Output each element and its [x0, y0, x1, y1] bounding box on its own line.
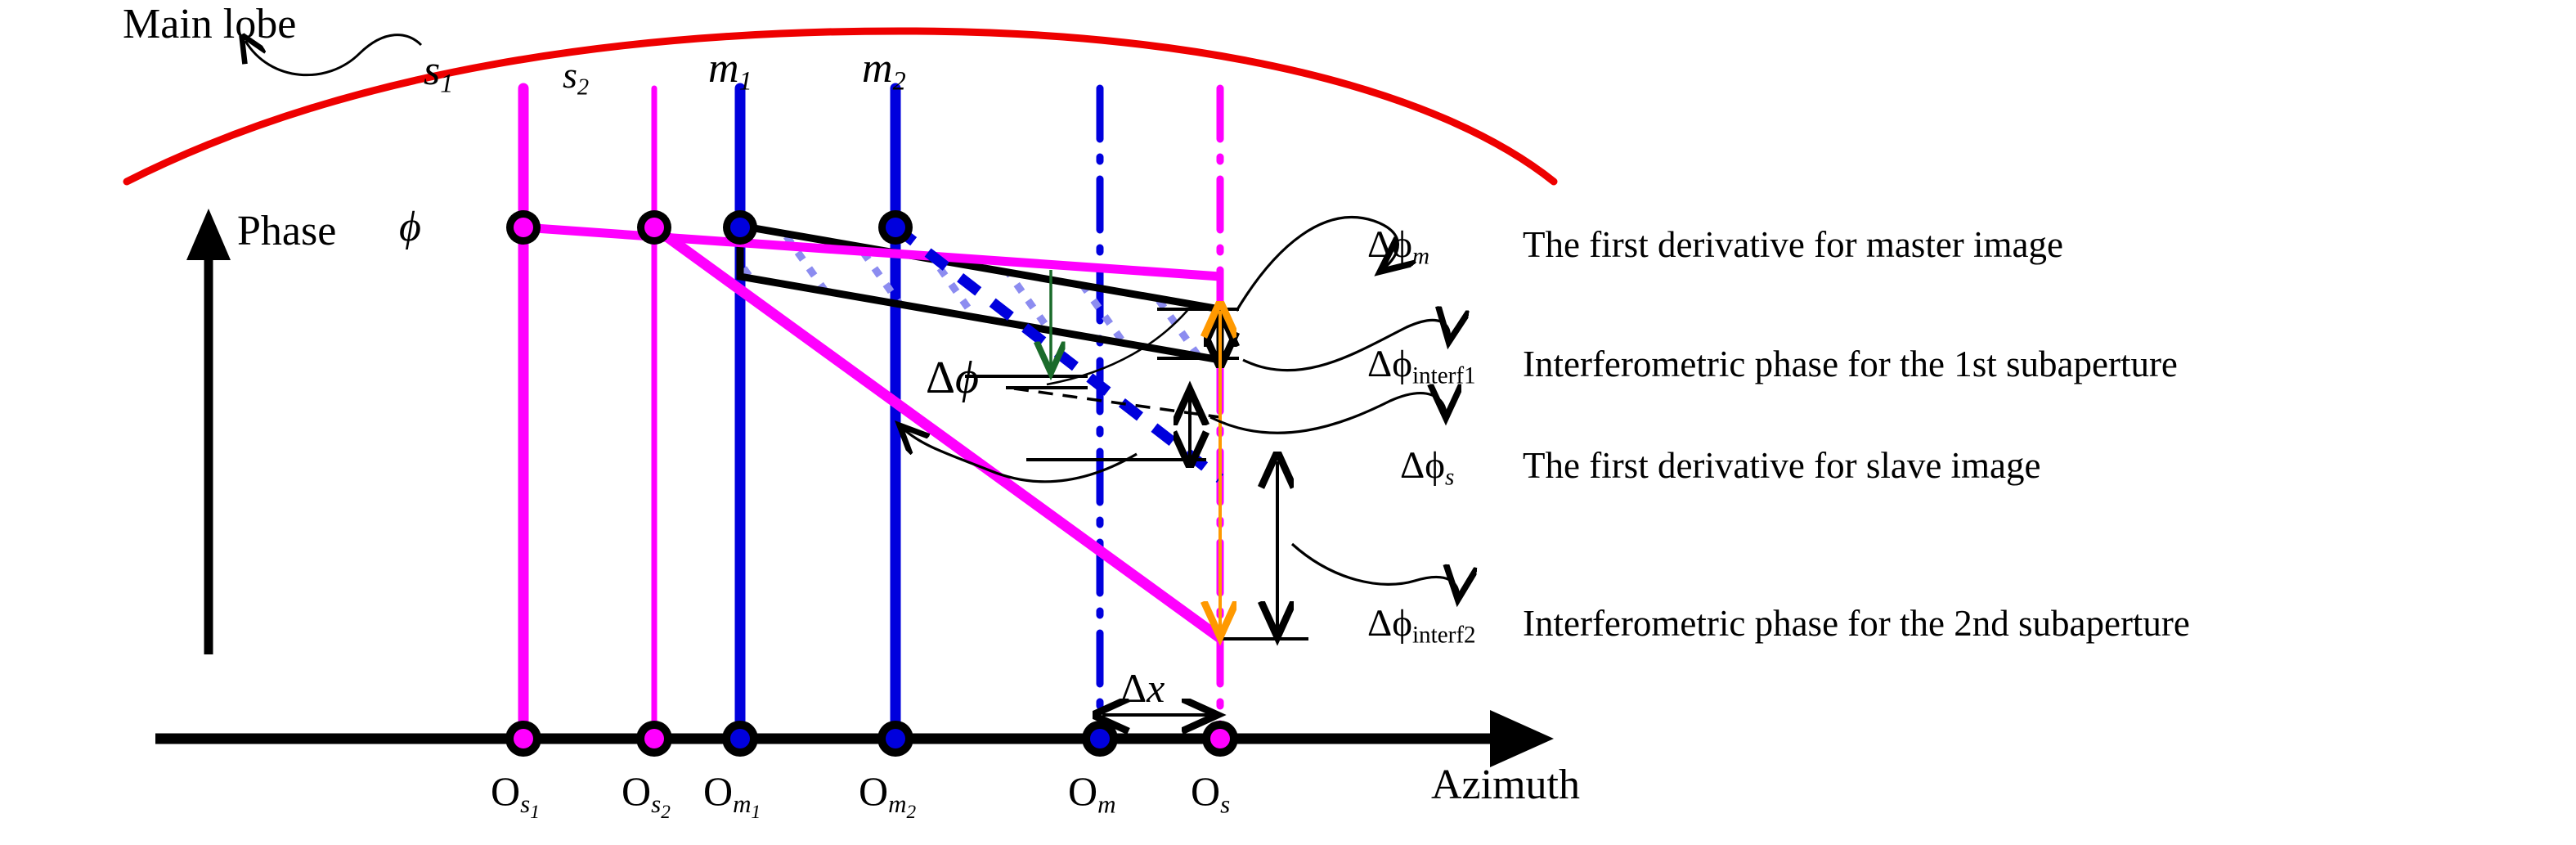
- axis-label-o-s: Os: [1191, 767, 1230, 819]
- axis-label-o-m1-sub: m1: [733, 789, 761, 818]
- label-m1-sub: 1: [739, 66, 752, 96]
- diagram-svg: [0, 0, 2576, 845]
- azimuth-axis-arrowhead: [1490, 710, 1554, 767]
- inner-delta-phi-label: Δϕ: [926, 352, 979, 404]
- phase-axis-arrowhead: [186, 209, 231, 260]
- delta-x-var: x: [1147, 665, 1165, 711]
- slave-phase-line-1: [523, 227, 1220, 276]
- legend-symbol-dphi-interf1: Δϕinterf1: [1367, 342, 1523, 390]
- axis-label-o-s1-subsub: 1: [530, 802, 540, 823]
- axis-label-o-s1-base: O: [491, 768, 520, 814]
- phi-label: ϕ: [399, 203, 421, 251]
- main-lobe-label: Main lobe: [123, 0, 296, 48]
- callout-arrow-dphi-s: [1210, 393, 1446, 434]
- axis-label-o-m1-sub-text: m: [733, 789, 751, 818]
- axis-label-o-m1-subsub: 1: [752, 802, 761, 823]
- inner-delta-phi-var: ϕ: [955, 353, 979, 403]
- axis-label-o-m2: Om2: [859, 767, 916, 824]
- axis-label-o-m1-base: O: [703, 768, 733, 814]
- legend-symbol-dphi-s-base: Δϕ: [1400, 444, 1445, 487]
- legend-text-dphi-s: The first derivative for slave image: [1523, 444, 2041, 487]
- legend-row-dphi-m: Δϕm The first derivative for master imag…: [1367, 222, 2063, 271]
- legend-symbol-dphi-m-sub: m: [1412, 244, 1429, 270]
- delta-x-label: Δx: [1120, 664, 1165, 712]
- legend-text-dphi-interf1: Interferometric phase for the 1st subape…: [1523, 343, 2178, 385]
- axis-label-o-m2-subsub: 2: [907, 802, 917, 823]
- axis-label-o-m2-sub-text: m: [888, 789, 906, 818]
- figure-canvas: Main lobe Phase Azimuth ϕ s1 s2 m1 m2 Os…: [0, 0, 2576, 845]
- axis-label-o-s2: Os2: [622, 767, 671, 824]
- label-s1-base: s: [424, 47, 440, 94]
- legend-symbol-dphi-interf1-sub: interf1: [1412, 363, 1476, 389]
- label-m1-base: m: [708, 45, 739, 92]
- legend-text-dphi-interf2: Interferometric phase for the 2nd subape…: [1523, 602, 2190, 645]
- axis-label-o-s2-sub: s2: [651, 789, 671, 818]
- legend-symbol-dphi-interf2-base: Δϕ: [1367, 602, 1412, 645]
- axis-label-o-m1: Om1: [703, 767, 761, 824]
- legend-symbol-dphi-m: Δϕm: [1367, 222, 1523, 271]
- inner-delta-phi-delta: Δ: [926, 353, 955, 403]
- label-s1: s1: [424, 47, 453, 99]
- legend-symbol-dphi-m-base: Δϕ: [1367, 223, 1412, 266]
- legend-row-dphi-s: Δϕs The first derivative for slave image: [1400, 443, 2041, 492]
- label-m2: m2: [862, 44, 906, 97]
- axis-label-o-s-sub: s: [1220, 789, 1230, 818]
- axis-label-o-s2-base: O: [622, 768, 651, 814]
- axis-label-o-s-base: O: [1191, 768, 1220, 814]
- legend-symbol-dphi-s: Δϕs: [1400, 443, 1523, 492]
- axis-label-o-m-sub: m: [1097, 789, 1115, 818]
- legend-row-dphi-interf2: Δϕinterf2 Interferometric phase for the …: [1367, 601, 2190, 649]
- label-s2: s2: [563, 53, 589, 101]
- axis-label-o-s1-sub-text: s: [520, 789, 530, 818]
- legend-row-dphi-interf1: Δϕinterf1 Interferometric phase for the …: [1367, 342, 2178, 390]
- label-s2-base: s: [563, 54, 577, 96]
- callout-arrow-dphi-interf2: [1292, 544, 1458, 597]
- axis-label-o-s1-sub: s1: [520, 789, 540, 818]
- delta-x-delta: Δ: [1120, 665, 1147, 711]
- label-s2-sub: 2: [577, 75, 589, 101]
- axis-label-o-s1: Os1: [491, 767, 540, 824]
- legend-symbol-dphi-s-sub: s: [1445, 465, 1454, 491]
- axis-label-o-m: Om: [1068, 767, 1116, 819]
- legend-symbol-dphi-interf2: Δϕinterf2: [1367, 601, 1523, 649]
- label-m2-sub: 2: [893, 66, 906, 96]
- label-m1: m1: [708, 44, 752, 97]
- main-lobe-curve: [127, 31, 1554, 182]
- axis-label-o-s2-sub-text: s: [651, 789, 661, 818]
- legend-symbol-dphi-interf2-sub: interf2: [1412, 623, 1476, 649]
- label-s1-sub: 1: [440, 69, 453, 98]
- axis-label-o-m2-base: O: [859, 768, 888, 814]
- azimuth-axis-label: Azimuth: [1431, 761, 1580, 809]
- phase-axis-label: Phase: [237, 207, 336, 255]
- axis-label-o-m-base: O: [1068, 768, 1097, 814]
- legend-symbol-dphi-interf1-base: Δϕ: [1367, 343, 1412, 385]
- axis-label-o-s2-subsub: 2: [661, 802, 671, 823]
- axis-label-o-m2-sub: m2: [888, 789, 916, 818]
- legend-text-dphi-m: The first derivative for master image: [1523, 223, 2063, 266]
- label-m2-base: m: [862, 45, 893, 92]
